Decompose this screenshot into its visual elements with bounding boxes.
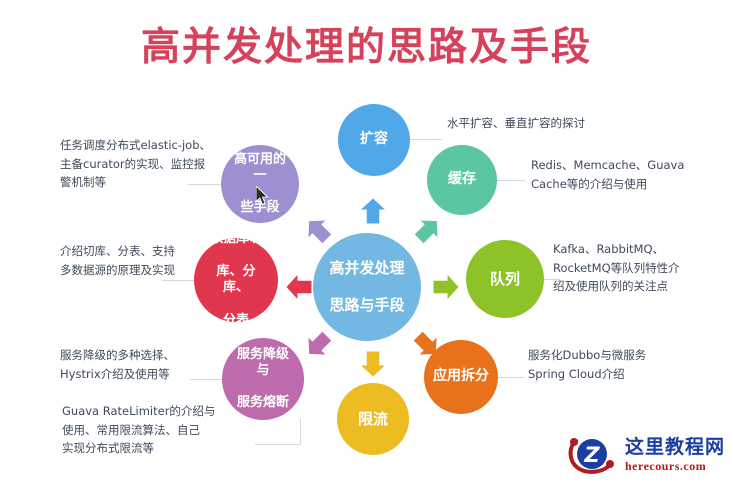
connector-line-xianliu-h [255,444,301,445]
desc-chaifen: 服务化Dubbo与微服务 Spring Cloud介绍 [528,346,708,383]
connector-line-shujuku [162,280,194,281]
arrow-left-shujuku [286,274,312,300]
desc-kuorong-line1: 水平扩容、垂直扩容的探讨 [447,114,627,133]
node-chaifen[interactable]: 应用拆分 [424,340,498,414]
desc-gaokeyong-line2: 主备curator的实现、监控报 [60,155,220,174]
arrow-down-xianliu [360,351,386,377]
node-center-line1: 高并发处理 [323,259,410,278]
arrow-up-kuorong [360,198,386,224]
watermark-cn: 这里教程网 [625,438,725,457]
slide-canvas: 高并发处理的思路及手段 [0,0,733,484]
node-xianliu[interactable]: 限流 [337,383,409,455]
node-huancun-label: 缓存 [442,171,482,189]
desc-gaokeyong-line1: 任务调度分布式elastic-job、 [60,136,220,155]
desc-shujuku-line1: 介绍切库、分表、支持 [60,242,210,261]
node-jiangji-line2: 服务熔断 [228,395,298,411]
desc-kuorong: 水平扩容、垂直扩容的探讨 [447,114,627,133]
desc-jiangji-line1: 服务降级的多种选择、 [60,346,220,365]
node-duilie[interactable]: 队列 [466,240,544,318]
desc-xianliu-line1: Guava RateLimiter的介绍与 [62,402,237,421]
node-center[interactable]: 高并发处理 思路与手段 [313,233,421,341]
desc-xianliu: Guava RateLimiter的介绍与 使用、常用限流算法、自己 实现分布式… [62,402,237,458]
desc-jiangji: 服务降级的多种选择、 Hystrix介绍及使用等 [60,346,220,383]
watermark: Z 这里教程网 herecours.com [566,432,725,478]
node-kuorong[interactable]: 扩容 [338,104,410,176]
desc-duilie-line1: Kafka、RabbitMQ、 [553,240,725,259]
desc-duilie-line2: RocketMQ等队列特性介 [553,259,725,278]
desc-shujuku-line2: 多数据源的原理及实现 [60,261,210,280]
node-shujuku-line2: 库、分库、 [200,264,272,297]
desc-jiangji-line2: Hystrix介绍及使用等 [60,365,220,384]
node-center-line2: 思路与手段 [323,296,410,315]
node-kuorong-label: 扩容 [354,131,394,149]
desc-xianliu-line2: 使用、常用限流算法、自己 [62,421,237,440]
desc-huancun-line2: Cache等的介绍与使用 [531,175,716,194]
connector-line-huancun [497,180,525,181]
node-huancun[interactable]: 缓存 [427,145,497,215]
desc-xianliu-line3: 实现分布式限流等 [62,439,237,458]
desc-gaokeyong: 任务调度分布式elastic-job、 主备curator的实现、监控报 警机制… [60,136,220,192]
connector-line-kuorong [410,139,442,140]
watermark-text: 这里教程网 herecours.com [625,438,725,472]
node-chaifen-label: 应用拆分 [427,368,495,386]
page-title: 高并发处理的思路及手段 [0,16,733,72]
node-shujuku-line3: 分表 [200,313,272,329]
connector-line-xianliu-v [300,419,301,445]
desc-duilie: Kafka、RabbitMQ、 RocketMQ等队列特性介 绍及使用队列的关注… [553,240,725,296]
node-gaokeyong[interactable]: 高可用的一 些手段 [221,145,299,223]
node-xianliu-label: 限流 [352,410,394,429]
svg-text:Z: Z [583,443,600,467]
watermark-logo-icon: Z [566,432,618,478]
node-shujuku-line1: 数据库切 [200,231,272,247]
desc-shujuku: 介绍切库、分表、支持 多数据源的原理及实现 [60,242,210,279]
connector-line-chaifen [498,377,524,378]
desc-chaifen-line1: 服务化Dubbo与微服务 [528,346,708,365]
desc-huancun-line1: Redis、Memcache、Guava [531,156,716,175]
node-gaokeyong-line1: 高可用的一 [227,152,293,185]
arrow-downleft-jiangji [300,327,337,364]
arrow-upleft-gaokeyong [300,212,337,249]
node-duilie-label: 队列 [484,270,526,289]
arrow-upright-huancun [410,212,447,249]
watermark-en: herecours.com [625,460,725,472]
desc-duilie-line3: 绍及使用队列的关注点 [553,277,725,296]
node-jiangji-line1: 服务降级与 [228,347,298,380]
desc-gaokeyong-line3: 警机制等 [60,173,220,192]
mouse-cursor-icon [256,186,270,206]
arrow-right-duilie [433,274,459,300]
desc-huancun: Redis、Memcache、Guava Cache等的介绍与使用 [531,156,716,193]
desc-chaifen-line2: Spring Cloud介绍 [528,365,708,384]
